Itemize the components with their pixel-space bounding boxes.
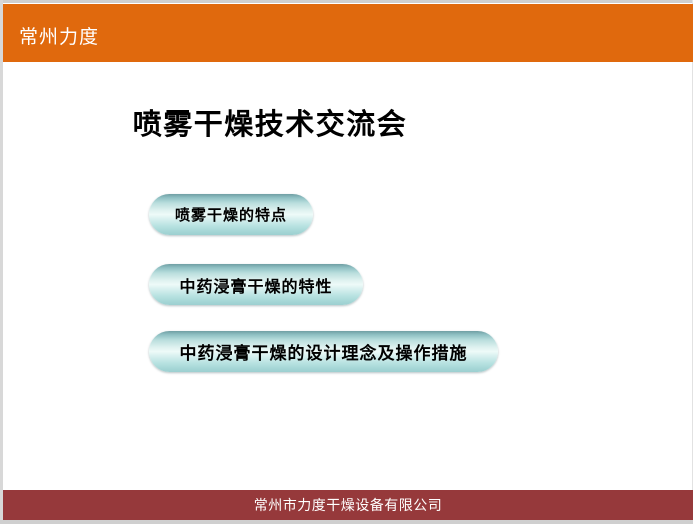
agenda-item-3-label: 中药浸膏干燥的设计理念及操作措施 xyxy=(180,339,468,364)
presentation-slide: 常州力度 喷雾干燥技术交流会 喷雾干燥的特点 中药浸膏干燥的特性 中药浸膏干燥的… xyxy=(0,0,693,524)
slide-header-band: 常州力度 xyxy=(3,4,693,62)
agenda-item-2[interactable]: 中药浸膏干燥的特性 xyxy=(149,264,363,305)
slide-border-left xyxy=(0,0,3,524)
agenda-item-1[interactable]: 喷雾干燥的特点 xyxy=(149,194,313,235)
agenda-item-1-label: 喷雾干燥的特点 xyxy=(175,204,287,225)
slide-border-top xyxy=(0,0,693,3)
agenda-item-2-label: 中药浸膏干燥的特性 xyxy=(179,273,332,297)
agenda-item-3[interactable]: 中药浸膏干燥的设计理念及操作措施 xyxy=(149,331,498,372)
slide-border-bottom xyxy=(0,520,693,524)
slide-footer-band: 常州市力度干燥设备有限公司 xyxy=(3,490,693,520)
company-name-label: 常州市力度干燥设备有限公司 xyxy=(254,495,443,515)
brand-title: 常州力度 xyxy=(19,25,99,49)
slide-main-title: 喷雾干燥技术交流会 xyxy=(0,106,540,142)
